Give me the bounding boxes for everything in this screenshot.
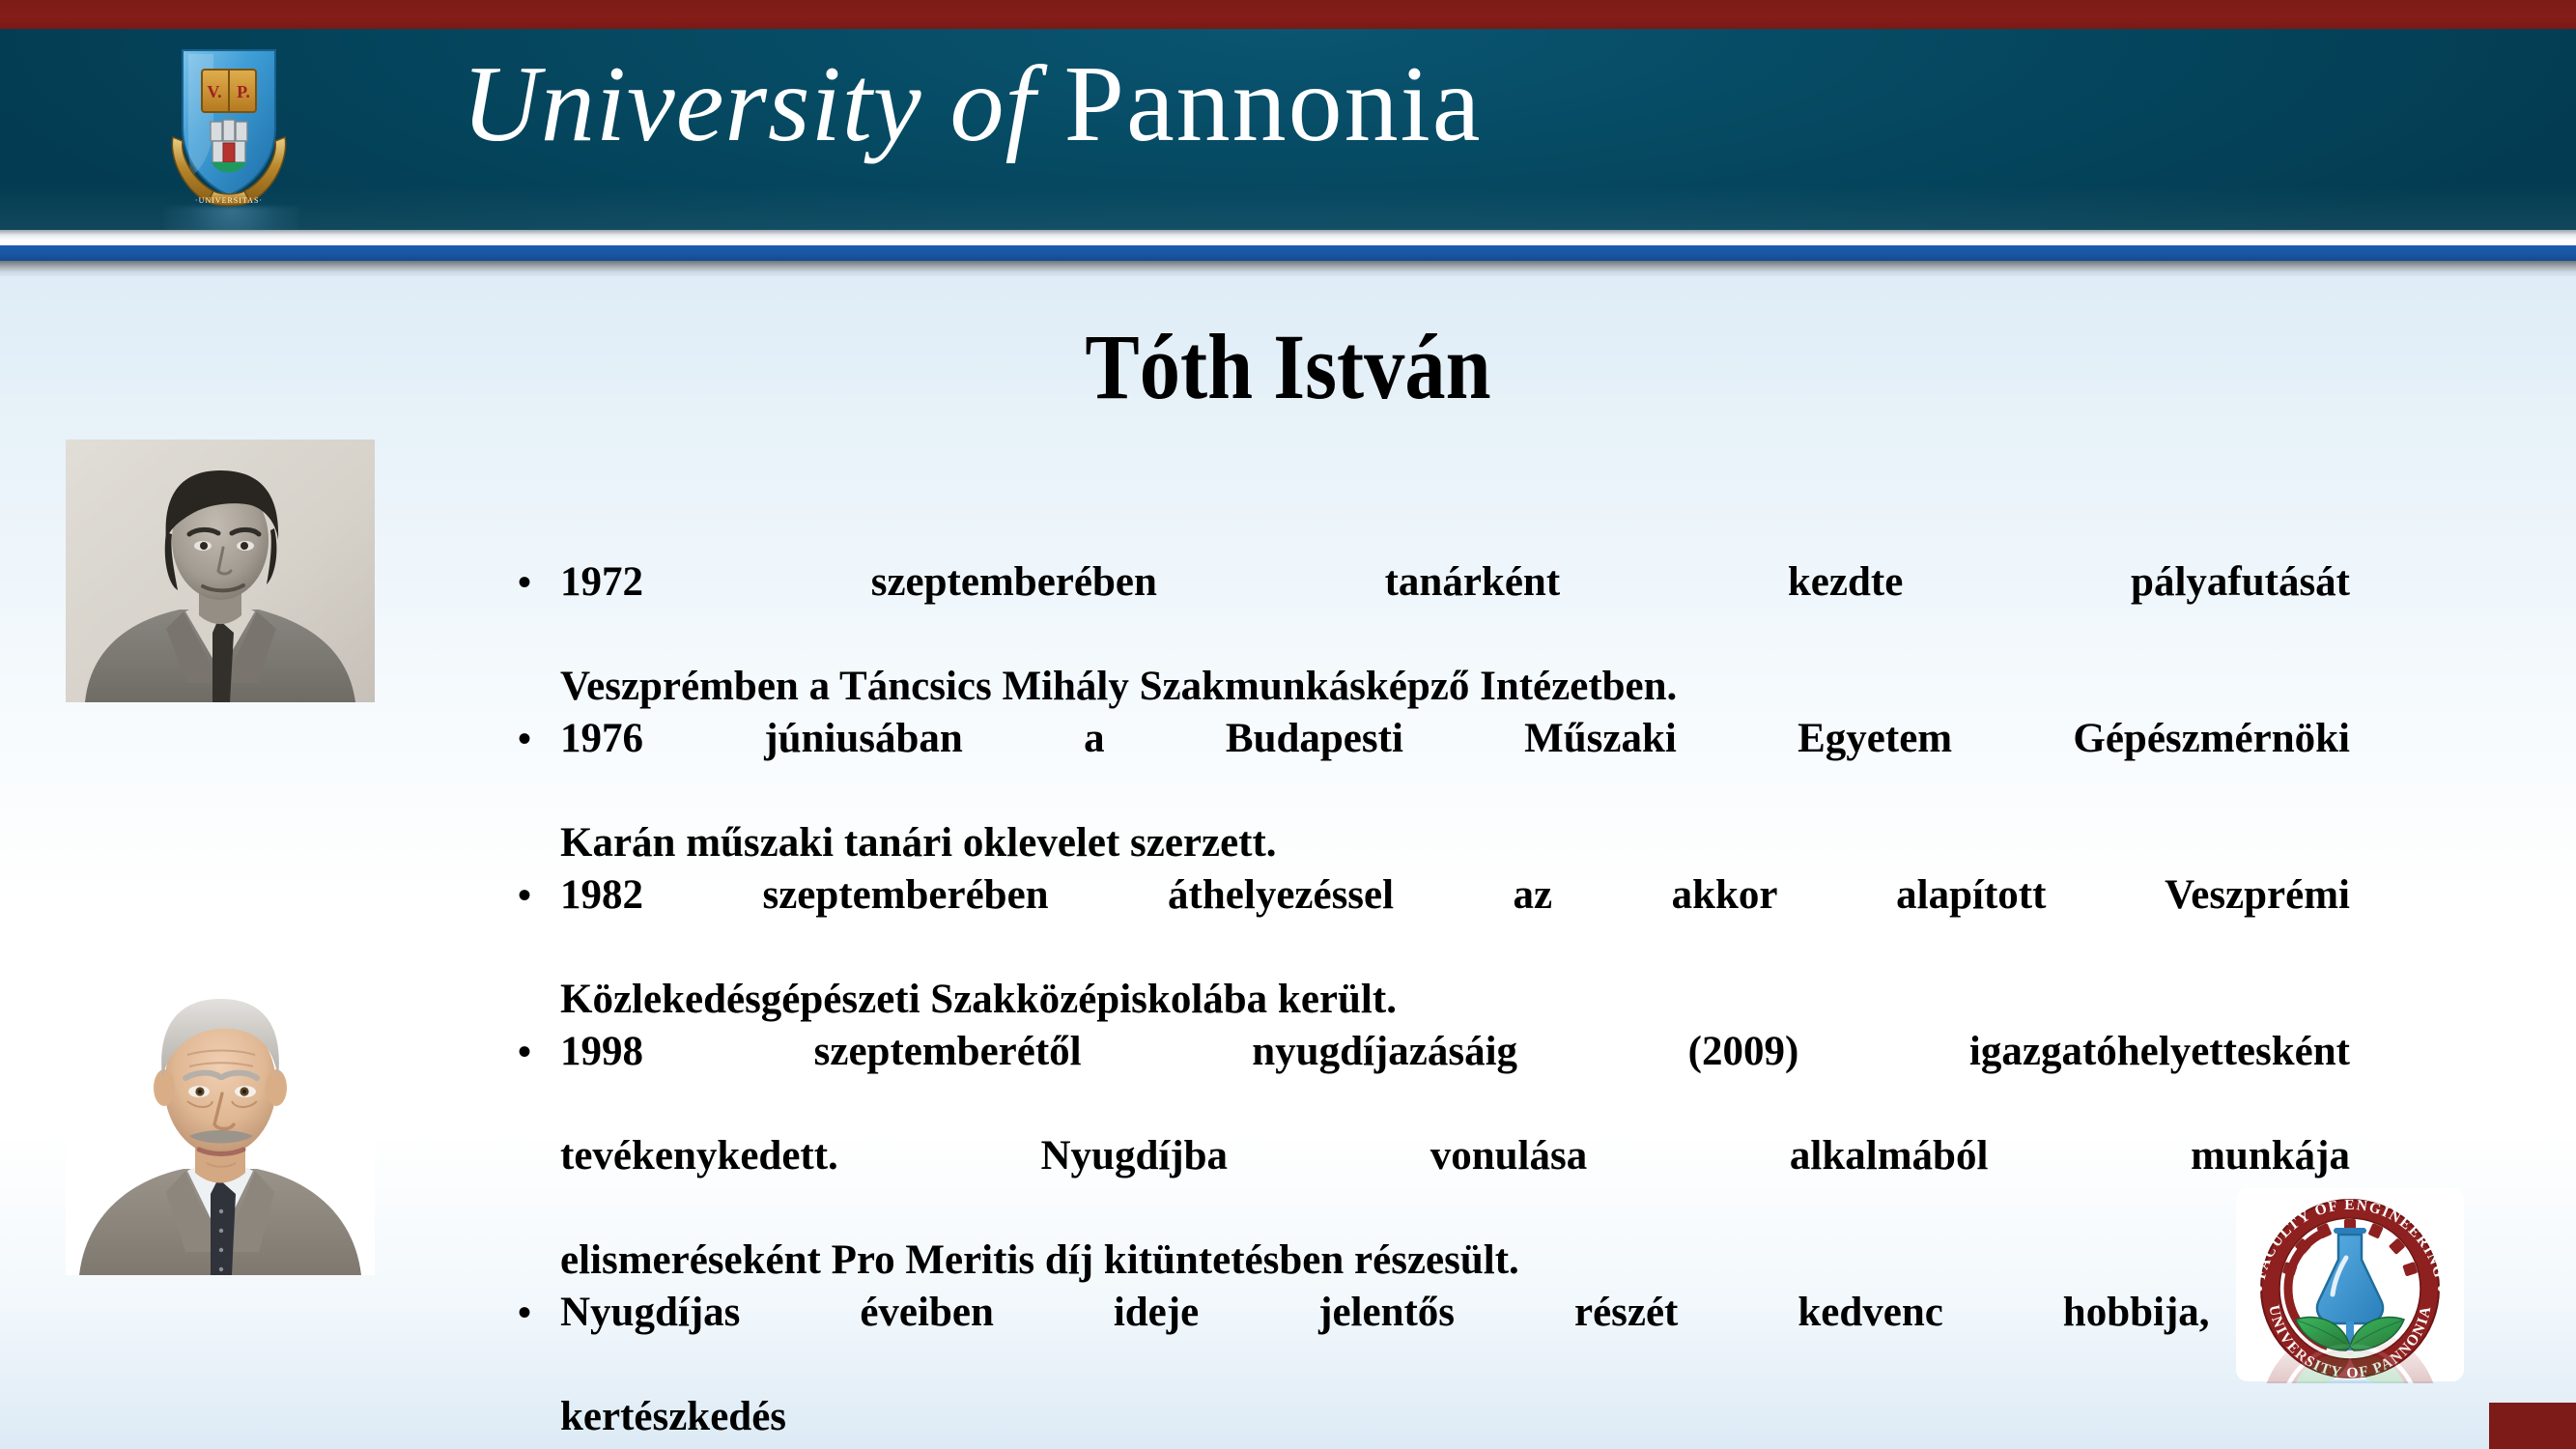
wordmark-of: of — [950, 44, 1036, 164]
list-item-line: Nyugdíjas éveiben ideje jelentős részét … — [560, 1287, 2350, 1391]
list-item: • 1998 szeptemberétől nyugdíjazásáig (20… — [510, 1026, 2350, 1287]
corner-accent-block — [2489, 1403, 2576, 1449]
list-item-line: elismeréseként Pro Meritis díj kitünteté… — [560, 1235, 2350, 1287]
list-item: • 1982 szeptemberében áthelyezéssel az a… — [510, 869, 2350, 1026]
bullet-marker: • — [518, 556, 531, 609]
biography-bullet-list: • 1972 szeptemberében tanárként kezdte p… — [510, 556, 2350, 1449]
bullet-marker: • — [518, 1026, 531, 1078]
slide-root: V. P. ·UNIVERSITAS· University — [0, 0, 2576, 1449]
header-red-strip — [0, 0, 2576, 29]
list-item: • Nyugdíjas éveiben ideje jelentős részé… — [510, 1287, 2350, 1449]
bullet-marker: • — [518, 1287, 531, 1339]
list-item-line: Veszprémben a Táncsics Mihály Szakmunkás… — [560, 661, 2350, 713]
list-item-line: tevékenykedett. Nyugdíjba vonulása alkal… — [560, 1130, 2350, 1235]
university-crest-icon: V. P. ·UNIVERSITAS· — [169, 44, 289, 207]
list-item: • 1976 júniusában a Budapesti Műszaki Eg… — [510, 713, 2350, 869]
wordmark-pannonia: Pannonia — [1064, 44, 1483, 164]
list-item-line: 1982 szeptemberében áthelyezéssel az akk… — [560, 869, 2350, 974]
list-item-line: kertészkedés — [560, 1391, 2350, 1443]
page-header: V. P. ·UNIVERSITAS· University — [0, 0, 2576, 275]
svg-text:V.: V. — [207, 82, 221, 101]
list-item-line: Közlekedésgépészeti Szakközépiskolába ke… — [560, 974, 2350, 1026]
faculty-of-engineering-seal-icon: FACULTY OF ENGINEERING UNIVERSITY OF PAN… — [2236, 1188, 2464, 1381]
list-item-line: tölti ki. — [560, 1443, 2350, 1449]
bullet-marker: • — [518, 869, 531, 922]
list-item: • 1972 szeptemberében tanárként kezdte p… — [510, 556, 2350, 713]
separator-blue-band — [0, 245, 2576, 261]
list-item-line: 1972 szeptemberében tanárként kezdte pál… — [560, 556, 2350, 661]
list-item-line: Karán műszaki tanári oklevelet szerzett. — [560, 817, 2350, 869]
svg-text:P.: P. — [237, 82, 250, 101]
university-wordmark: University of Pannonia — [462, 35, 2152, 175]
list-item-line: 1998 szeptemberétől nyugdíjazásáig (2009… — [560, 1026, 2350, 1130]
separator-grey-band — [0, 261, 2576, 276]
wordmark-university: University — [462, 44, 922, 164]
page-title: Tóth István — [155, 314, 2421, 420]
portrait-photo-young — [66, 440, 375, 702]
list-item-line: 1976 júniusában a Budapesti Műszaki Egye… — [560, 713, 2350, 817]
bullet-marker: • — [518, 713, 531, 765]
portrait-photo-senior — [66, 956, 375, 1275]
svg-text:·UNIVERSITAS·: ·UNIVERSITAS· — [195, 196, 263, 205]
separator-white-band — [0, 230, 2576, 245]
